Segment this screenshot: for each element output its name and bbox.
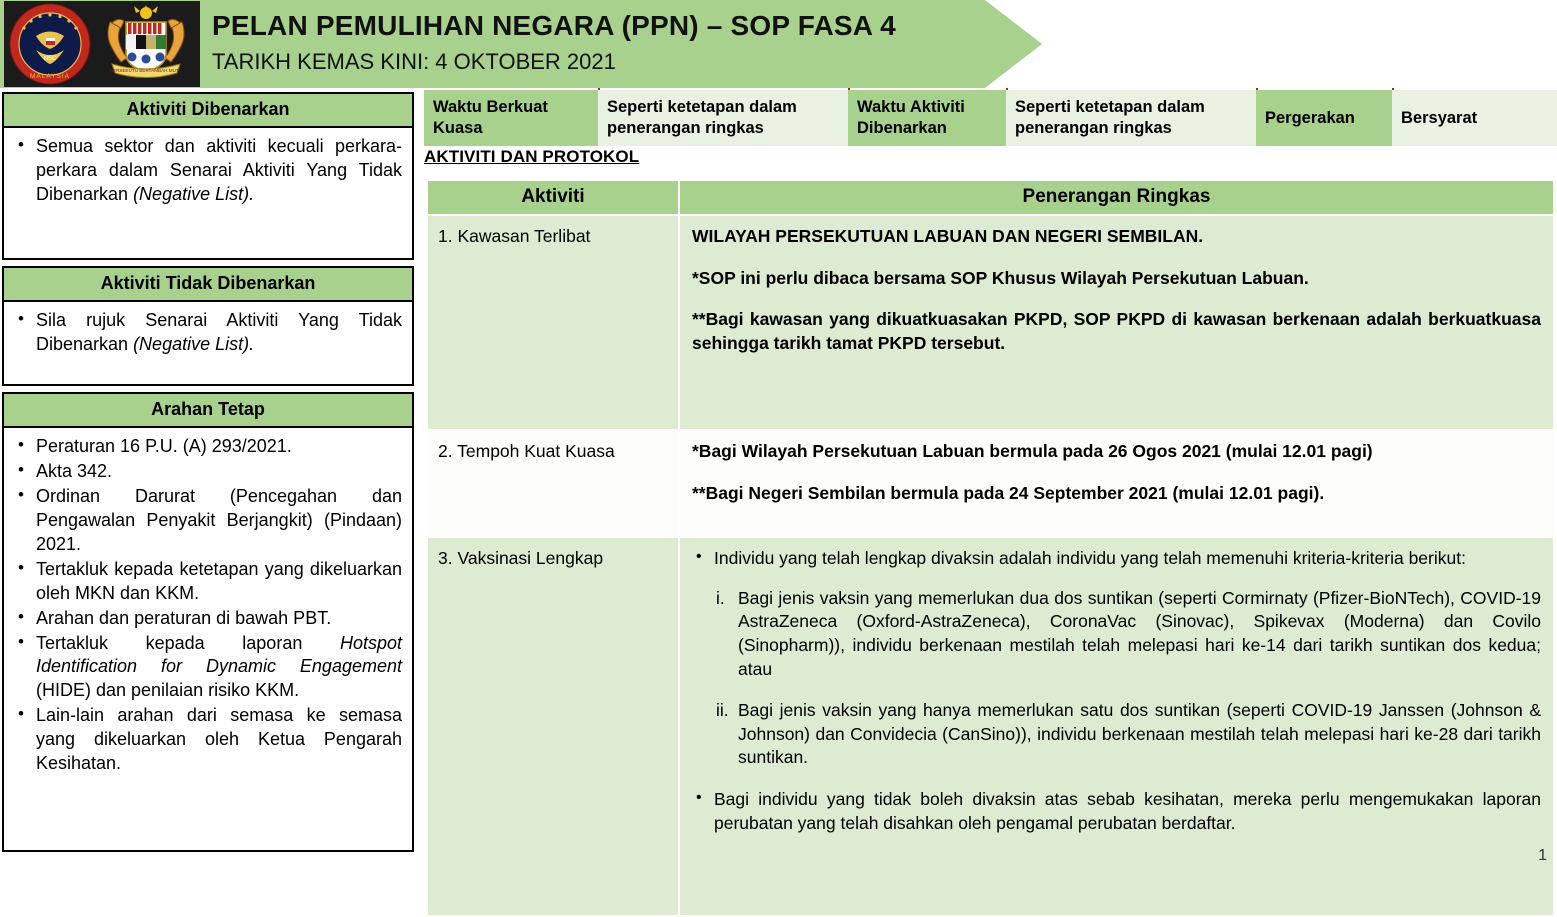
list-item-text: Arahan dan peraturan di bawah PBT. [36,608,331,628]
description-paragraph: *Bagi Wilayah Persekutuan Labuan bermula… [692,440,1541,464]
sidebar-bullet-list: Peraturan 16 P.U. (A) 293/2021.Akta 342.… [10,435,402,776]
sidebar-panel-body: Sila rujuk Senarai Aktiviti Yang Tidak D… [4,302,412,367]
list-item: Lain-lain arahan dari semasa ke semasa y… [10,704,402,776]
page-title: PELAN PEMULIHAN NEGARA (PPN) – SOP FASA … [212,8,896,43]
logo-group: NSC MALAYSIA [4,1,200,87]
list-item: Sila rujuk Senarai Aktiviti Yang Tidak D… [10,309,402,357]
column-header-aktiviti: Aktiviti [427,180,679,215]
list-item: Arahan dan peraturan di bawah PBT. [10,607,402,631]
header-title-block: PELAN PEMULIHAN NEGARA (PPN) – SOP FASA … [212,8,896,77]
description-roman-item: ii.Bagi jenis vaksin yang hanya memerluk… [692,699,1541,770]
list-item-italic-text: (Negative List). [133,334,254,354]
table-row: 2. Tempoh Kuat Kuasa*Bagi Wilayah Persek… [427,430,1554,537]
mkn-seal-icon: NSC MALAYSIA [6,2,94,86]
list-item: Tertakluk kepada laporan Hotspot Identif… [10,632,402,704]
list-item-text: Lain-lain arahan dari semasa ke semasa y… [36,705,402,773]
svg-text:BERSEKUTU BERTAMBAH MUTU: BERSEKUTU BERTAMBAH MUTU [110,68,182,73]
sidebar-bullet-list: Sila rujuk Senarai Aktiviti Yang Tidak D… [10,309,402,357]
description-bullet: Bagi individu yang tidak boleh divaksin … [692,788,1541,835]
list-item-text: Peraturan 16 P.U. (A) 293/2021. [36,436,292,456]
nav-tab-label: Seperti ketetapan dalam penerangan ringk… [1015,97,1250,138]
list-item: Semua sektor dan aktiviti kecuali perkar… [10,135,402,207]
nav-tab-label: Bersyarat [1401,108,1477,129]
table-cell-description: *Bagi Wilayah Persekutuan Labuan bermula… [679,430,1554,537]
protocol-table: Aktiviti Penerangan Ringkas 1. Kawasan T… [426,179,1555,917]
svg-text:NSC: NSC [44,56,57,62]
sidebar-panel: Aktiviti DibenarkanSemua sektor dan akti… [2,92,414,260]
table-cell-activity: 2. Tempoh Kuat Kuasa [427,430,679,537]
svg-text:MALAYSIA: MALAYSIA [30,73,70,80]
roman-marker: i. [716,587,725,611]
table-cell-description: WILAYAH PERSEKUTUAN LABUAN DAN NEGERI SE… [679,215,1554,430]
list-item: Peraturan 16 P.U. (A) 293/2021. [10,435,402,459]
nav-tab[interactable]: Pergerakan [1256,90,1392,146]
table-cell-description: Individu yang telah lengkap divaksin ada… [679,537,1554,916]
page-header: NSC MALAYSIA [0,0,1557,88]
main-content: Waktu Berkuat KuasaSeperti ketetapan dal… [420,88,1557,869]
description-paragraph: **Bagi Negeri Sembilan bermula pada 24 S… [692,482,1541,506]
page-subtitle: TARIKH KEMAS KINI: 4 OKTOBER 2021 [212,48,896,77]
list-item: Akta 342. [10,460,402,484]
nav-tab-label: Waktu Berkuat Kuasa [433,97,592,138]
list-item-italic-text: (Negative List). [133,184,254,204]
list-item-text: Akta 342. [36,461,112,481]
sidebar: Aktiviti DibenarkanSemua sektor dan akti… [2,92,414,864]
section-title: AKTIVITI DAN PROTOKOL [424,147,639,167]
list-item: Ordinan Darurat (Pencegahan dan Pengawal… [10,485,402,557]
description-roman-item: i.Bagi jenis vaksin yang memerlukan dua … [692,587,1541,682]
sidebar-panel: Aktiviti Tidak DibenarkanSila rujuk Sena… [2,266,414,386]
list-item: Tertakluk kepada ketetapan yang dikeluar… [10,558,402,606]
nav-tab-label: Waktu Aktiviti Dibenarkan [857,97,1000,138]
table-header-row: Aktiviti Penerangan Ringkas [427,180,1554,215]
nav-tab-label: Seperti ketetapan dalam penerangan ringk… [607,97,842,138]
nav-tab[interactable]: Seperti ketetapan dalam penerangan ringk… [598,90,848,146]
nav-tab-bar: Waktu Berkuat KuasaSeperti ketetapan dal… [420,88,1557,148]
roman-text: Bagi jenis vaksin yang hanya memerlukan … [738,700,1541,767]
table-row: 1. Kawasan TerlibatWILAYAH PERSEKUTUAN L… [427,215,1554,430]
description-paragraph: WILAYAH PERSEKUTUAN LABUAN DAN NEGERI SE… [692,225,1541,249]
sidebar-panel-body: Semua sektor dan aktiviti kecuali perkar… [4,128,412,217]
description-paragraph: **Bagi kawasan yang dikuatkuasakan PKPD,… [692,308,1541,355]
table-cell-activity: 3. Vaksinasi Lengkap [427,537,679,916]
list-item-text: Tertakluk kepada ketetapan yang dikeluar… [36,559,402,603]
roman-text: Bagi jenis vaksin yang memerlukan dua do… [738,588,1541,679]
description-bullet: Individu yang telah lengkap divaksin ada… [692,547,1541,571]
page-number: 1 [1538,847,1547,865]
nav-tab[interactable]: Bersyarat [1392,90,1557,146]
list-item-tail-text: (HIDE) dan penilaian risiko KKM. [36,680,299,700]
column-header-penerangan: Penerangan Ringkas [679,180,1554,215]
table-cell-activity: 1. Kawasan Terlibat [427,215,679,430]
sidebar-panel: Arahan TetapPeraturan 16 P.U. (A) 293/20… [2,392,414,852]
list-item-text: Tertakluk kepada laporan [36,633,340,653]
nav-tab[interactable]: Waktu Aktiviti Dibenarkan [848,90,1006,146]
table-row: 3. Vaksinasi LengkapIndividu yang telah … [427,537,1554,916]
list-item-text: Ordinan Darurat (Pencegahan dan Pengawal… [36,486,402,554]
sidebar-panel-title: Arahan Tetap [4,394,412,428]
description-paragraph: *SOP ini perlu dibaca bersama SOP Khusus… [692,267,1541,291]
sidebar-panel-title: Aktiviti Dibenarkan [4,94,412,128]
sidebar-bullet-list: Semua sektor dan aktiviti kecuali perkar… [10,135,402,207]
roman-marker: ii. [716,699,729,723]
sidebar-panel-title: Aktiviti Tidak Dibenarkan [4,268,412,302]
nav-tab[interactable]: Waktu Berkuat Kuasa [424,90,598,146]
sidebar-panel-body: Peraturan 16 P.U. (A) 293/2021.Akta 342.… [4,428,412,786]
nav-tab-label: Pergerakan [1265,108,1355,129]
malaysia-coat-of-arms-icon: BERSEKUTU BERTAMBAH MUTU [96,2,196,86]
nav-tab[interactable]: Seperti ketetapan dalam penerangan ringk… [1006,90,1256,146]
